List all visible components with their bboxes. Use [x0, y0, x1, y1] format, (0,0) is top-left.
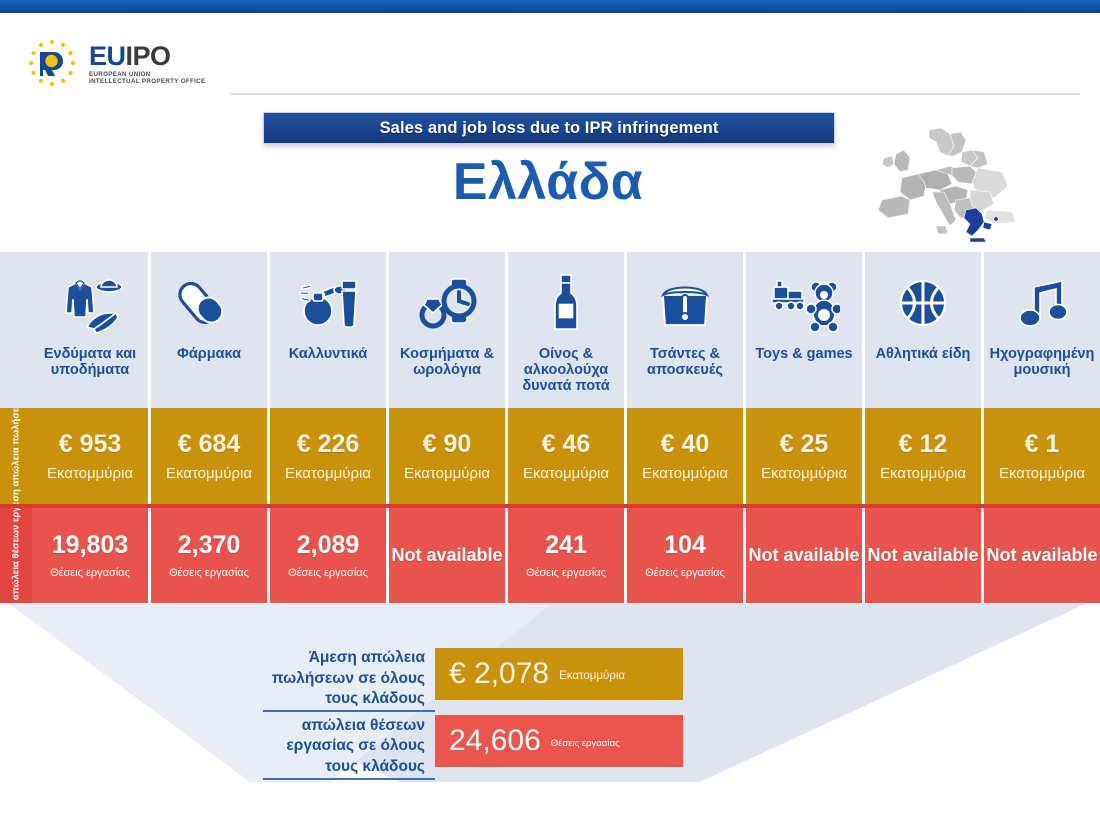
table-column-wine-spirits[interactable]: Οίνος & αλκοολούχα δυνατά ποτά — [508, 252, 627, 408]
category-label: Toys & games — [753, 346, 854, 362]
jobs-value: Not available — [391, 545, 502, 566]
jobs-cell: Not available — [389, 508, 508, 603]
category-label: Ηχογραφημένη μουσική — [984, 346, 1100, 378]
sales-unit: Εκατομμύρια — [404, 466, 490, 481]
sales-value: € 226 — [297, 432, 360, 457]
sales-unit: Εκατομμύρια — [642, 466, 728, 481]
table-column-sporting-goods[interactable]: Αθλητικά είδη — [865, 252, 984, 408]
sales-cell: € 226 Εκατομμύρια — [270, 408, 389, 504]
header-cells: Ενδύματα και υποδήματα Φάρμακα — [32, 252, 1100, 408]
logo-ipo-text: IPO — [126, 41, 171, 71]
sales-unit: Εκατομμύρια — [999, 466, 1085, 481]
sales-value: € 90 — [423, 432, 472, 457]
table-column-handbags[interactable]: Τσάντες & αποσκευές — [627, 252, 746, 408]
sales-value: € 12 — [899, 432, 948, 457]
table-column-cosmetics[interactable]: Καλλυντικά — [270, 252, 389, 408]
logo-eu-text: EU — [89, 41, 126, 71]
jobs-cell: Not available — [984, 508, 1100, 603]
jobs-unit: Θέσεις εργασίας — [526, 568, 606, 579]
sales-value: € 25 — [780, 432, 829, 457]
logo-subtitle-line2: INTELLECTUAL PROPERTY OFFICE — [89, 79, 205, 85]
sales-value: € 684 — [178, 432, 241, 457]
table-column-jewellery[interactable]: Κοσμήματα & ωρολόγια — [389, 252, 508, 408]
jobs-unit: Θέσεις εργασίας — [169, 568, 249, 579]
category-label: Οίνος & αλκοολούχα δυνατά ποτά — [508, 346, 624, 395]
sales-cell: € 684 Εκατομμύρια — [151, 408, 270, 504]
category-label: Φάρμακα — [175, 346, 243, 362]
jobs-unit: Θέσεις εργασίας — [645, 568, 725, 579]
infographic-page: EUIPO EUROPEAN UNION INTELLECTUAL PROPER… — [0, 0, 1100, 825]
sales-unit: Εκατομμύρια — [166, 466, 252, 481]
sales-unit: Εκατομμύρια — [523, 466, 609, 481]
jobs-cell: 2,089 Θέσεις εργασίας — [270, 508, 389, 603]
jobs-cell: 104 Θέσεις εργασίας — [627, 508, 746, 603]
table-column-recorded-music[interactable]: Ηχογραφημένη μουσική — [984, 252, 1100, 408]
jobs-loss-spine-label: άμεση απώλεια θέσεων εργασίας — [10, 508, 21, 603]
sales-unit: Εκατομμύρια — [285, 466, 371, 481]
total-jobs-box: 24,606 Θέσεις εργασίας — [435, 715, 683, 767]
total-sales-value: € 2,078 — [449, 659, 549, 689]
pharmaceuticals-icon — [173, 266, 245, 342]
jobs-value: Not available — [986, 545, 1097, 566]
sales-unit: Εκατομμύρια — [880, 466, 966, 481]
cosmetics-icon — [292, 266, 364, 342]
sales-unit: Εκατομμύρια — [47, 466, 133, 481]
jobs-value: Not available — [867, 545, 978, 566]
wine-and-spirits-icon — [530, 266, 602, 342]
jobs-value: Not available — [748, 545, 859, 566]
sales-loss-cells: € 953 Εκατομμύρια € 684 Εκατομμύρια € 22… — [32, 408, 1100, 504]
title-banner: Sales and job loss due to IPR infringeme… — [263, 112, 835, 144]
jobs-value: 2,370 — [178, 533, 241, 558]
category-label: Κοσμήματα & ωρολόγια — [389, 346, 505, 378]
sporting-goods-icon — [887, 266, 959, 342]
total-jobs-row: απώλεια θέσεων εργασίας σε όλους τους κλ… — [263, 712, 683, 780]
category-label: Καλλυντικά — [287, 346, 369, 362]
sales-value: € 1 — [1025, 432, 1060, 457]
sales-loss-row: άμεση απώλεια πωλήσεων € 953 Εκατομμύρια… — [0, 408, 1100, 504]
banner-title: Sales and job loss due to IPR infringeme… — [380, 119, 719, 138]
country-title: Ελλάδα — [263, 152, 833, 212]
sales-cell: € 12 Εκατομμύρια — [865, 408, 984, 504]
jobs-value: 104 — [664, 533, 706, 558]
totals-summary: Άμεση απώλεια πωλήσεων σε όλους τους κλά… — [263, 648, 683, 780]
total-jobs-label: απώλεια θέσεων εργασίας σε όλους τους κλ… — [263, 712, 435, 780]
category-label: Τσάντες & αποσκευές — [627, 346, 743, 378]
total-sales-box: € 2,078 Εκατομμύρια — [435, 648, 683, 700]
total-jobs-value: 24,606 — [449, 726, 541, 756]
jobs-value: 2,089 — [297, 533, 360, 558]
jobs-loss-row: άμεση απώλεια θέσεων εργασίας 19,803 Θέσ… — [0, 504, 1100, 603]
total-sales-unit: Εκατομμύρια — [559, 665, 625, 683]
sales-loss-spine: άμεση απώλεια πωλήσεων — [0, 408, 32, 504]
sales-unit: Εκατομμύρια — [761, 466, 847, 481]
recorded-music-icon — [1006, 266, 1078, 342]
table-column-toys-games[interactable]: Toys & games — [746, 252, 865, 408]
jewellery-and-watches-icon — [411, 266, 483, 342]
sector-data-table: Ενδύματα και υποδήματα Φάρμακα — [0, 252, 1100, 603]
jobs-unit: Θέσεις εργασίας — [50, 568, 130, 579]
europe-map — [866, 126, 1031, 244]
euipo-logo: EUIPO EUROPEAN UNION INTELLECTUAL PROPER… — [24, 36, 205, 90]
category-label: Ενδύματα και υποδήματα — [32, 346, 148, 378]
jobs-loss-spine: άμεση απώλεια θέσεων εργασίας — [0, 508, 32, 603]
sales-value: € 40 — [661, 432, 710, 457]
sales-value: € 46 — [542, 432, 591, 457]
sales-cell: € 40 Εκατομμύρια — [627, 408, 746, 504]
total-jobs-unit: Θέσεις εργασίας — [551, 733, 620, 749]
jobs-cell: 241 Θέσεις εργασίας — [508, 508, 627, 603]
jobs-cell: 19,803 Θέσεις εργασίας — [32, 508, 151, 603]
jobs-value: 19,803 — [52, 533, 128, 558]
jobs-cell: Not available — [746, 508, 865, 603]
sales-value: € 953 — [59, 432, 122, 457]
handbags-and-luggage-icon — [649, 266, 721, 342]
sales-cell: € 953 Εκατομμύρια — [32, 408, 151, 504]
top-accent-bar — [0, 0, 1100, 13]
table-header-row: Ενδύματα και υποδήματα Φάρμακα — [0, 252, 1100, 408]
jobs-unit: Θέσεις εργασίας — [288, 568, 368, 579]
category-label: Αθλητικά είδη — [874, 346, 973, 362]
total-sales-row: Άμεση απώλεια πωλήσεων σε όλους τους κλά… — [263, 648, 683, 712]
table-column-clothing[interactable]: Ενδύματα και υποδήματα — [32, 252, 151, 408]
total-sales-label: Άμεση απώλεια πωλήσεων σε όλους τους κλά… — [263, 648, 435, 712]
jobs-cell: 2,370 Θέσεις εργασίας — [151, 508, 270, 603]
jobs-cell: Not available — [865, 508, 984, 603]
sales-cell: € 90 Εκατομμύρια — [389, 408, 508, 504]
jobs-loss-cells: 19,803 Θέσεις εργασίας 2,370 Θέσεις εργα… — [32, 508, 1100, 603]
jobs-value: 241 — [545, 533, 587, 558]
eu-stars-icon — [24, 36, 80, 90]
sales-cell: € 25 Εκατομμύρια — [746, 408, 865, 504]
toys-and-games-icon — [768, 266, 840, 342]
sales-cell: € 1 Εκατομμύρια — [984, 408, 1100, 504]
table-column-pharmaceuticals[interactable]: Φάρμακα — [151, 252, 270, 408]
header-divider — [230, 93, 1080, 95]
clothing-and-footwear-icon — [54, 266, 126, 342]
header-spine — [0, 252, 32, 408]
sales-loss-spine-label: άμεση απώλεια πωλήσεων — [10, 408, 21, 504]
sales-cell: € 46 Εκατομμύρια — [508, 408, 627, 504]
